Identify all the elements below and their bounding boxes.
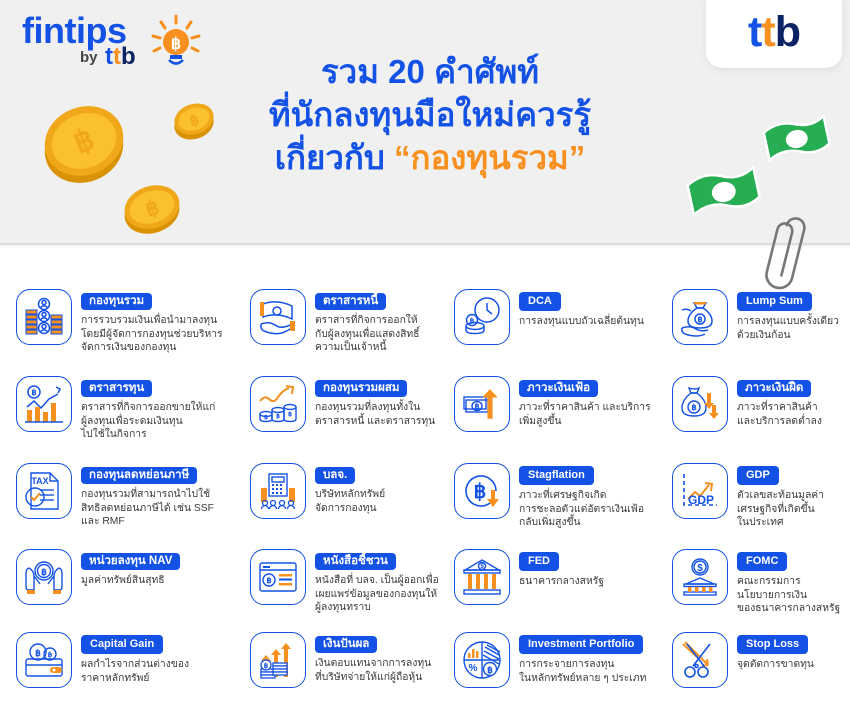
term-description: บริษัทหลักทรัพย์ จัดการกองทุน <box>315 488 385 515</box>
svg-text:฿: ฿ <box>264 662 269 670</box>
office-building-people-icon <box>250 463 306 519</box>
term-description: การลงทุนแบบครั้งเดียว ด้วยเงินก้อน <box>737 315 839 342</box>
infographic-page: ฿ ฿ ฿ fintip <box>0 0 850 708</box>
hand-moneybag-icon: ฿ <box>672 289 728 345</box>
term-badge: หน่วยลงทุน NAV <box>81 553 180 570</box>
term-badge: Investment Portfolio <box>519 635 643 654</box>
term-badge: Capital Gain <box>81 635 163 654</box>
term-badge: DCA <box>519 292 561 311</box>
card-body: DCA การลงทุนแบบถัวเฉลี่ยต้นทุน <box>519 289 644 329</box>
svg-text:TAX: TAX <box>31 476 48 486</box>
term-card[interactable]: % ฿ Investment Portfolio การกระจายการลงท… <box>454 632 654 688</box>
headline-line-3-prefix: เกี่ยวกับ <box>275 139 394 176</box>
card-body: FOMC คณะกรรมการ นโยบายการเงิน ของธนาคารก… <box>737 549 840 616</box>
svg-text:฿: ฿ <box>474 402 479 411</box>
term-badge: กองทุนรวมผสม <box>315 380 407 397</box>
headline-line-2: ที่นักลงทุนมือใหม่ควรรู้ <box>180 93 680 136</box>
svg-text:$: $ <box>697 563 703 574</box>
headline: รวม 20 คำศัพท์ ที่นักลงทุนมือใหม่ควรรู้ … <box>180 50 680 179</box>
term-badge: GDP <box>737 466 779 485</box>
svg-text:฿: ฿ <box>266 576 271 585</box>
term-description: ภาวะที่ราคาสินค้า และบริการ เพิ่มสูงขึ้น <box>519 401 651 428</box>
term-card[interactable]: ตราสารหนี้ ตราสารที่กิจการออกให้ กับผู้ล… <box>250 289 458 355</box>
header-divider <box>0 243 850 248</box>
svg-text:฿: ฿ <box>474 481 487 503</box>
svg-text:฿: ฿ <box>470 317 475 325</box>
term-description: คณะกรรมการ นโยบายการเงิน ของธนาคารกลางสห… <box>737 575 840 616</box>
svg-text:฿: ฿ <box>41 567 47 577</box>
card-body: FED ธนาคารกลางสหรัฐ <box>519 549 604 589</box>
svg-text:฿: ฿ <box>691 403 696 412</box>
moneybag-down-arrow-icon: ฿ <box>672 376 728 432</box>
bar-chart-growth-icon: ฿ <box>16 376 72 432</box>
term-badge: Stagflation <box>519 466 594 485</box>
hands-holding-coin-icon: ฿ <box>16 549 72 605</box>
term-card[interactable]: $ FOMC คณะกรรมการ นโยบายการเงิน ของธนาคา… <box>672 549 850 616</box>
term-description: ตราสารที่กิจการออกให้ กับผู้ลงทุนเพื่อแส… <box>315 314 419 355</box>
svg-text:฿: ฿ <box>48 651 53 659</box>
svg-text:฿: ฿ <box>31 388 36 397</box>
clock-coins-icon: ฿ <box>454 289 510 345</box>
card-body: Investment Portfolio การกระจายการลงทุน ใ… <box>519 632 646 685</box>
term-description: การกระจายการลงทุน ในหลักทรัพย์หลาย ๆ ประ… <box>519 658 646 685</box>
term-description: หนังสือที่ บลจ. เป็นผู้ออกเพื่อ เผยแพร่ข… <box>315 574 439 615</box>
term-badge: Stop Loss <box>737 635 808 654</box>
term-card[interactable]: $ FED ธนาคารกลางสหรัฐ <box>454 549 654 605</box>
headline-line-1: รวม 20 คำศัพท์ <box>180 50 680 93</box>
wallet-coins-icon: ฿ ฿ <box>16 632 72 688</box>
card-body: ภาวะเงินเฟ้อ ภาวะที่ราคาสินค้า และบริการ… <box>519 376 651 428</box>
term-card[interactable]: ฿ เงินปันผล เงินตอบแทนจากการลงทุน ที่บริ… <box>250 632 458 688</box>
term-badge: กองทุนลดหย่อนภาษี <box>81 467 197 484</box>
svg-text:฿: ฿ <box>276 413 280 420</box>
term-description: ภาวะที่เศรษฐกิจเกิด การชะลอตัวแต่อัตราเง… <box>519 489 644 530</box>
term-description: จุดตัดการขาดทุน <box>737 658 814 672</box>
term-description: เงินตอบแทนจากการลงทุน ที่บริษัทจ่ายให้แก… <box>315 657 431 684</box>
term-card[interactable]: กองทุนรวม การรวบรวมเงินเพื่อนำมาลงทุน โด… <box>16 289 224 355</box>
card-body: กองทุนรวมผสม กองทุนรวมที่ลงทุนทั้งใน ตรา… <box>315 376 435 428</box>
tax-document-check-icon: TAX <box>16 463 72 519</box>
term-badge: หนังสือชี้ชวน <box>315 553 396 570</box>
logo-ttb-wordmark: ttb <box>105 45 136 69</box>
arrow-coins-icon: ฿ ฿ ฿ <box>250 376 306 432</box>
term-description: การลงทุนแบบถัวเฉลี่ยต้นทุน <box>519 315 644 329</box>
term-badge: เงินปันผล <box>315 636 377 653</box>
term-card[interactable]: ฿ ภาวะเงินเฟ้อ ภาวะที่ราคาสินค้า และบริก… <box>454 376 654 432</box>
svg-text:฿: ฿ <box>697 315 702 324</box>
hand-banknote-icon <box>250 289 306 345</box>
term-card[interactable]: ฿ หนังสือชี้ชวน หนังสือที่ บลจ. เป็นผู้อ… <box>250 549 458 615</box>
terms-grid: กองทุนรวม การรวบรวมเงินเพื่อนำมาลงทุน โด… <box>0 245 850 708</box>
bank-building-icon: $ <box>454 549 510 605</box>
svg-text:GDP: GDP <box>688 493 714 507</box>
term-badge: กองทุนรวม <box>81 293 152 310</box>
card-body: เงินปันผล เงินตอบแทนจากการลงทุน ที่บริษั… <box>315 632 431 684</box>
term-description: ภาวะที่ราคาสินค้า และบริการลดต่ำลง <box>737 401 822 428</box>
pie-chart-portfolio-icon: % ฿ <box>454 632 510 688</box>
term-badge: ภาวะเงินเฟ้อ <box>519 380 598 397</box>
term-badge: บลจ. <box>315 467 355 484</box>
card-body: หนังสือชี้ชวน หนังสือที่ บลจ. เป็นผู้ออก… <box>315 549 439 615</box>
term-description: ตราสารที่กิจการออกขายให้แก่ ผู้ลงทุนเพื่… <box>81 401 215 442</box>
banknote-green-2-icon <box>684 160 764 226</box>
card-body: บลจ. บริษัทหลักทรัพย์ จัดการกองทุน <box>315 463 385 515</box>
term-description: ธนาคารกลางสหรัฐ <box>519 575 604 589</box>
dividend-arrows-coins-icon: ฿ <box>250 632 306 688</box>
term-badge: ตราสารทุน <box>81 380 152 397</box>
term-badge: ภาวะเงินฝืด <box>737 380 811 397</box>
card-body: Capital Gain ผลกำไรจากส่วนต่างของ ราคาหล… <box>81 632 189 685</box>
gdp-growth-chart-icon: GDP <box>672 463 728 519</box>
lightbulb-bitcoin-icon: ฿ <box>147 14 205 72</box>
header-banner: ฿ ฿ ฿ fintip <box>0 0 850 245</box>
term-description: ตัวเลขสะท้อนมูลค่า เศรษฐกิจที่เกิดขึ้น ใ… <box>737 489 824 530</box>
term-description: มูลค่าทรัพย์สินสุทธิ <box>81 574 180 588</box>
card-body: กองทุนรวม การรวบรวมเงินเพื่อนำมาลงทุน โด… <box>81 289 223 355</box>
baht-circle-down-icon: ฿ <box>454 463 510 519</box>
term-badge: ตราสารหนี้ <box>315 293 386 310</box>
paperclip-icon <box>762 216 810 298</box>
bitcoin-coin-large-icon: ฿ <box>34 98 134 188</box>
term-card[interactable]: ฿ ตราสารทุน ตราสารที่กิจการออกขายให้แก่ … <box>16 376 224 442</box>
banknote-up-arrow-icon: ฿ <box>454 376 510 432</box>
svg-text:฿: ฿ <box>35 648 41 658</box>
fintips-logo: fintips by ttb ฿ <box>22 12 207 74</box>
term-card[interactable]: Stop Loss จุดตัดการขาดทุน <box>672 632 850 688</box>
term-card[interactable]: ฿ Lump Sum การลงทุนแบบครั้งเดียว ด้วยเงิ… <box>672 289 850 345</box>
svg-text:%: % <box>469 663 478 674</box>
term-description: การรวบรวมเงินเพื่อนำมาลงทุน โดยมีผู้จัดก… <box>81 314 223 355</box>
headline-line-3: เกี่ยวกับ “กองทุนรวม” <box>180 136 680 179</box>
card-body: GDP ตัวเลขสะท้อนมูลค่า เศรษฐกิจที่เกิดขึ… <box>737 463 824 530</box>
svg-text:฿: ฿ <box>264 414 268 421</box>
svg-text:฿: ฿ <box>487 665 493 675</box>
banknote-green-1-icon <box>760 110 834 170</box>
fomc-bank-coin-icon: $ <box>672 549 728 605</box>
ttb-logo-box: ttb <box>706 0 842 68</box>
scissors-arrow-icon <box>672 632 728 688</box>
term-card[interactable]: ฿ Stagflation ภาวะที่เศรษฐกิจเกิด การชะล… <box>454 463 654 530</box>
term-description: ผลกำไรจากส่วนต่างของ ราคาหลักทรัพย์ <box>81 658 189 685</box>
term-card[interactable]: ฿ ฿ ฿ กองทุนรวมผสม กองทุนรวมที่ลงทุนทั้ง… <box>250 376 458 432</box>
term-badge: FED <box>519 552 559 571</box>
card-body: ตราสารทุน ตราสารที่กิจการออกขายให้แก่ ผู… <box>81 376 215 442</box>
card-body: Stagflation ภาวะที่เศรษฐกิจเกิด การชะลอต… <box>519 463 644 530</box>
card-body: หน่วยลงทุน NAV มูลค่าทรัพย์สินสุทธิ <box>81 549 180 588</box>
term-badge: FOMC <box>737 552 787 571</box>
svg-text:฿: ฿ <box>171 36 181 53</box>
headline-line-3-quoted: “กองทุนรวม” <box>394 139 585 176</box>
term-card[interactable]: บลจ. บริษัทหลักทรัพย์ จัดการกองทุน <box>250 463 458 519</box>
term-card[interactable]: GDP GDP ตัวเลขสะท้อนมูลค่า เศรษฐกิจที่เก… <box>672 463 850 530</box>
card-body: ตราสารหนี้ ตราสารที่กิจการออกให้ กับผู้ล… <box>315 289 419 355</box>
term-card[interactable]: ฿ DCA การลงทุนแบบถัวเฉลี่ยต้นทุน <box>454 289 654 345</box>
people-coins-icon <box>16 289 72 345</box>
term-description: กองทุนรวมที่ลงทุนทั้งใน ตราสารหนี้ และตร… <box>315 401 435 428</box>
svg-text:฿: ฿ <box>288 411 292 418</box>
term-card[interactable]: ฿ หน่วยลงทุน NAV มูลค่าทรัพย์สินสุทธิ <box>16 549 224 605</box>
logo-by-text: by <box>80 49 98 66</box>
term-card[interactable]: ฿ ฿ Capital Gain ผลกำไรจากส่วนต่างของ รา… <box>16 632 224 688</box>
bitcoin-coin-medium-icon: ฿ <box>116 178 188 240</box>
term-card[interactable]: ฿ ภาวะเงินฝืด ภาวะที่ราคาสินค้า และบริกา… <box>672 376 850 432</box>
term-description: กองทุนรวมที่สามารถนำไปใช้ สิทธิลดหย่อนภา… <box>81 488 214 529</box>
ttb-logo-wordmark: ttb <box>748 1 800 54</box>
term-card[interactable]: TAX กองทุนลดหย่อนภาษี กองทุนรวมที่สามารถ… <box>16 463 224 529</box>
card-body: ภาวะเงินฝืด ภาวะที่ราคาสินค้า และบริการล… <box>737 376 822 428</box>
prospectus-document-icon: ฿ <box>250 549 306 605</box>
card-body: Stop Loss จุดตัดการขาดทุน <box>737 632 814 672</box>
card-body: กองทุนลดหย่อนภาษี กองทุนรวมที่สามารถนำไป… <box>81 463 214 529</box>
